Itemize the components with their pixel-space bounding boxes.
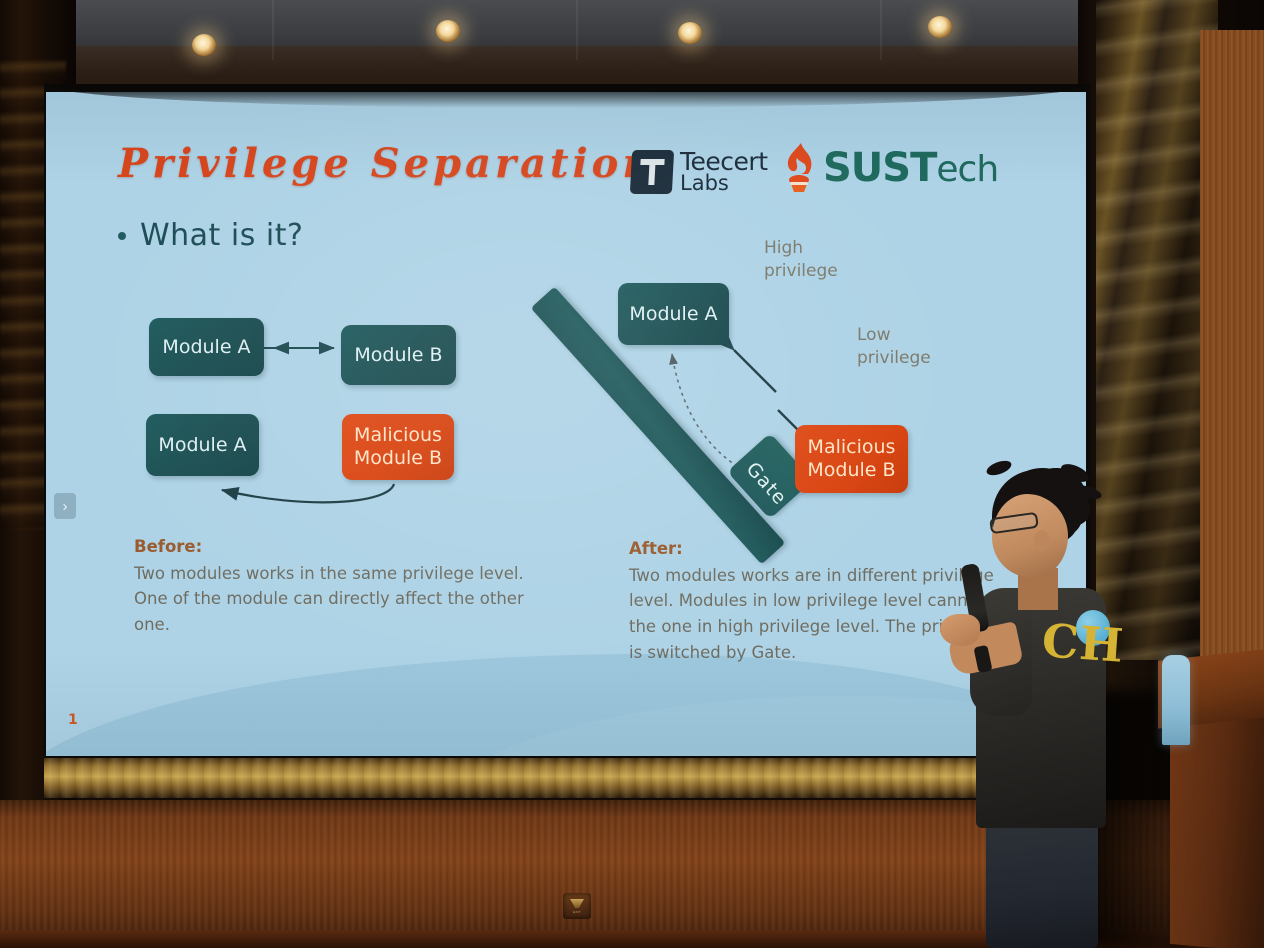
slide-page-number: 1 xyxy=(68,712,78,728)
ceiling-spotlight xyxy=(928,16,952,38)
teecert-name-line2: Labs xyxy=(680,174,768,194)
high-privilege-label: High privilege xyxy=(764,237,838,283)
ceiling-spotlight xyxy=(678,22,702,44)
lecture-hall-photo: EXIT Privilege Separation Teecert Labs xyxy=(0,0,1264,948)
caption-before-heading: Before: xyxy=(134,534,544,560)
slide-title: Privilege Separation xyxy=(118,140,655,187)
presenter-head xyxy=(992,494,1068,578)
malicious-module-b-box-after: Malicious Module B xyxy=(795,425,908,493)
sustech-upper: SUST xyxy=(823,145,936,191)
chevron-right-glyph: › xyxy=(63,499,68,514)
wood-panel xyxy=(1200,30,1264,730)
teecert-mark-icon xyxy=(630,150,674,194)
low-privilege-label: Low privilege xyxy=(857,324,931,370)
malicious-module-b-box-before: Malicious Module B xyxy=(342,414,454,480)
wall-plaque: EXIT xyxy=(563,893,591,919)
caption-before: Before: Two modules works in the same pr… xyxy=(134,534,544,638)
module-b-box-before-top: Module B xyxy=(341,325,456,385)
presenter-person: CH xyxy=(930,460,1140,948)
presenter-ear xyxy=(1034,530,1050,552)
ceiling-spotlight xyxy=(436,20,460,42)
next-slide-chevron-icon[interactable]: › xyxy=(54,493,76,519)
module-a-box-before-bottom: Module A xyxy=(146,414,259,476)
bullet-dot-icon xyxy=(118,232,126,240)
plaque-label: EXIT xyxy=(565,910,589,914)
podium-monitor xyxy=(1162,655,1190,745)
ceiling-seam xyxy=(880,0,882,60)
shirt-letters: CH xyxy=(1040,617,1125,669)
ceiling-seam xyxy=(272,0,274,60)
sustech-wordmark: SUSTech xyxy=(823,148,998,188)
flame-torch-icon xyxy=(781,142,817,194)
bullet-label: What is it? xyxy=(140,218,303,253)
module-a-box-after: Module A xyxy=(618,283,729,345)
plaque-emblem-icon xyxy=(570,899,584,908)
bullet-what-is-it: What is it? xyxy=(118,218,303,253)
caption-before-body: Two modules works in the same privilege … xyxy=(134,564,524,634)
module-a-box-before-top: Module A xyxy=(149,318,264,376)
hair-spike xyxy=(985,458,1014,478)
ceiling-seam xyxy=(576,0,578,60)
teecert-labs-logo: Teecert Labs xyxy=(631,150,768,194)
sustech-logo: SUSTech Southern University of Science a… xyxy=(781,142,998,194)
presenter-hand xyxy=(940,614,980,646)
presenter-legs xyxy=(986,812,1098,948)
sustech-lower: ech xyxy=(936,149,998,190)
ceiling-spotlight xyxy=(192,34,216,56)
